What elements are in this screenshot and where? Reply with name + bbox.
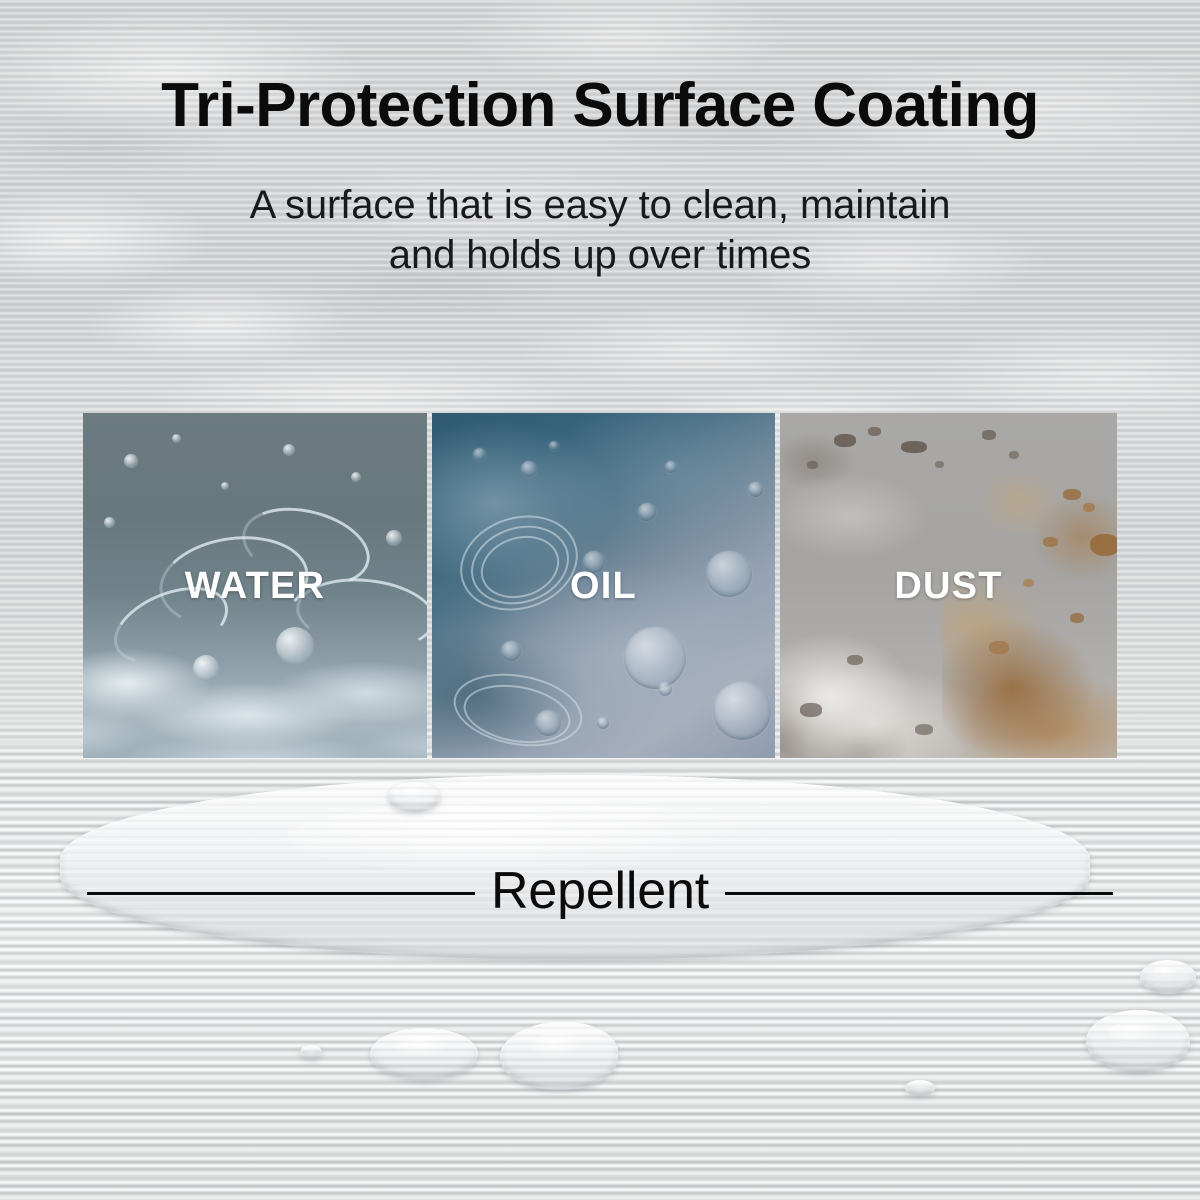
- panel-label-oil: OIL: [432, 567, 775, 605]
- page-title: Tri-Protection Surface Coating: [0, 75, 1200, 137]
- panel-label-water: WATER: [83, 567, 427, 605]
- water-droplet-tiny-b: [905, 1080, 935, 1096]
- water-droplet-tiny-a: [300, 1045, 322, 1059]
- panel-label-dust: DUST: [780, 567, 1117, 605]
- panel-water[interactable]: WATER: [83, 413, 427, 758]
- infographic-canvas: Tri-Protection Surface Coating A surface…: [0, 0, 1200, 1200]
- panel-dust[interactable]: DUST: [780, 413, 1117, 758]
- feature-panel-group: WATER: [83, 413, 1117, 758]
- repellent-label: Repellent: [491, 865, 709, 921]
- repellent-banner: Repellent: [87, 860, 1113, 926]
- water-droplet-medium-left: [370, 1028, 478, 1080]
- water-droplet-small-right: [1140, 960, 1196, 994]
- subtitle-line-2: and holds up over times: [0, 230, 1200, 280]
- subtitle-line-1: A surface that is easy to clean, maintai…: [0, 180, 1200, 230]
- water-droplet-medium-center: [500, 1022, 618, 1090]
- water-droplet-medium-right: [1086, 1010, 1190, 1072]
- panel-oil[interactable]: OIL: [432, 413, 775, 758]
- repellent-rule-right: [725, 892, 1113, 895]
- page-subtitle: A surface that is easy to clean, maintai…: [0, 180, 1200, 280]
- repellent-rule-left: [87, 892, 475, 895]
- water-droplet-small-upper: [388, 782, 440, 812]
